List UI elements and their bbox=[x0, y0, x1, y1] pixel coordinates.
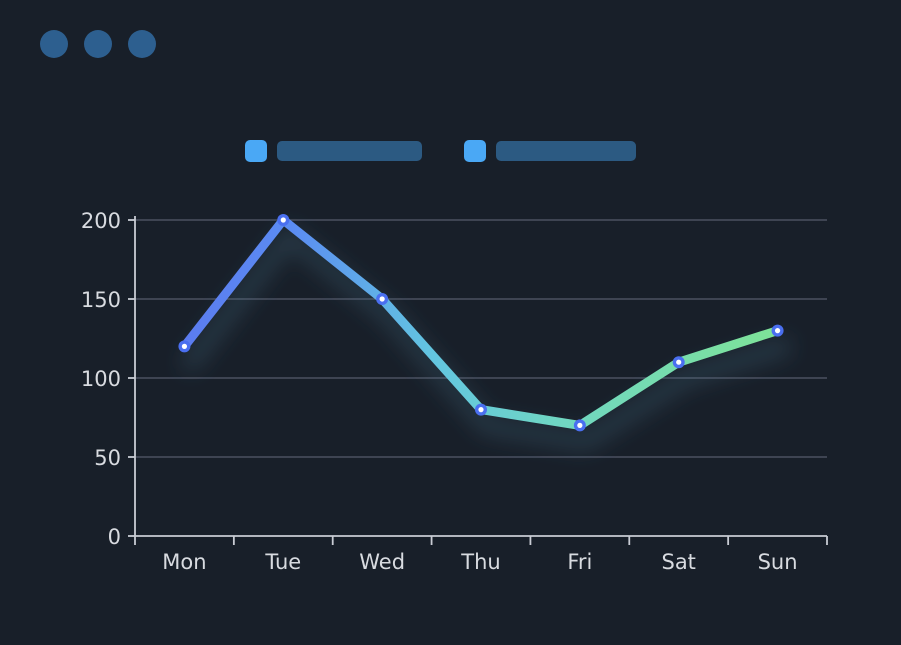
data-point-marker-core bbox=[577, 423, 582, 428]
y-tick-label: 0 bbox=[108, 525, 121, 549]
x-tick-label: Sun bbox=[758, 550, 798, 574]
data-point-marker-core bbox=[775, 328, 780, 333]
data-point-marker-core bbox=[380, 296, 385, 301]
x-tick-label: Fri bbox=[567, 550, 592, 574]
y-axis-ticks bbox=[128, 220, 135, 536]
x-tick-label: Thu bbox=[460, 550, 500, 574]
line-chart: 050100150200 MonTueWedThuFriSatSun bbox=[0, 0, 901, 645]
y-tick-label: 200 bbox=[81, 209, 121, 233]
y-tick-label: 50 bbox=[94, 446, 121, 470]
data-point-marker-core bbox=[478, 407, 483, 412]
chart-svg: 050100150200 MonTueWedThuFriSatSun bbox=[0, 0, 901, 645]
x-tick-label: Mon bbox=[162, 550, 206, 574]
x-tick-label: Tue bbox=[264, 550, 301, 574]
x-tick-label: Sat bbox=[661, 550, 695, 574]
x-axis-labels: MonTueWedThuFriSatSun bbox=[162, 550, 797, 574]
x-tick-label: Wed bbox=[359, 550, 405, 574]
y-tick-label: 100 bbox=[81, 367, 121, 391]
y-tick-label: 150 bbox=[81, 288, 121, 312]
data-point-marker-core bbox=[281, 217, 286, 222]
data-point-marker-core bbox=[182, 344, 187, 349]
data-point-markers bbox=[178, 214, 783, 431]
data-point-marker-core bbox=[676, 360, 681, 365]
x-axis-ticks bbox=[135, 536, 827, 545]
y-axis-labels: 050100150200 bbox=[81, 209, 121, 549]
